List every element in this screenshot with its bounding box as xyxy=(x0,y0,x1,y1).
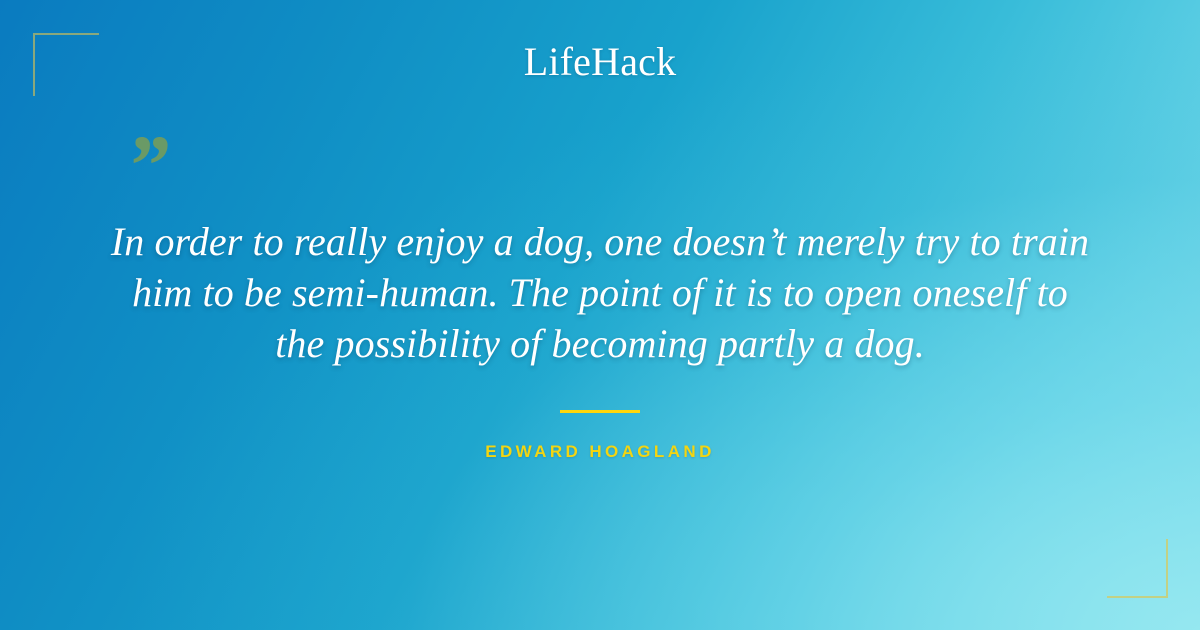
quote-line: In order to really enjoy a dog, one does… xyxy=(70,216,1130,267)
quote-text: In order to really enjoy a dog, one does… xyxy=(70,216,1130,369)
bracket-line-horizontal xyxy=(1107,596,1168,598)
quote-author: EDWARD HOAGLAND xyxy=(0,441,1200,463)
bracket-line-horizontal xyxy=(33,33,99,35)
quote-card: LifeHack ” In order to really enjoy a do… xyxy=(0,0,1200,630)
corner-bracket-bottom-right xyxy=(1107,539,1168,598)
quotation-mark-icon: ” xyxy=(126,122,169,208)
bracket-line-vertical xyxy=(1166,539,1168,598)
quote-line: him to be semi-human. The point of it is… xyxy=(70,267,1130,318)
attribution-divider xyxy=(560,410,640,413)
quote-line: the possibility of becoming partly a dog… xyxy=(70,318,1130,369)
brand-logo: LifeHack xyxy=(0,40,1200,84)
